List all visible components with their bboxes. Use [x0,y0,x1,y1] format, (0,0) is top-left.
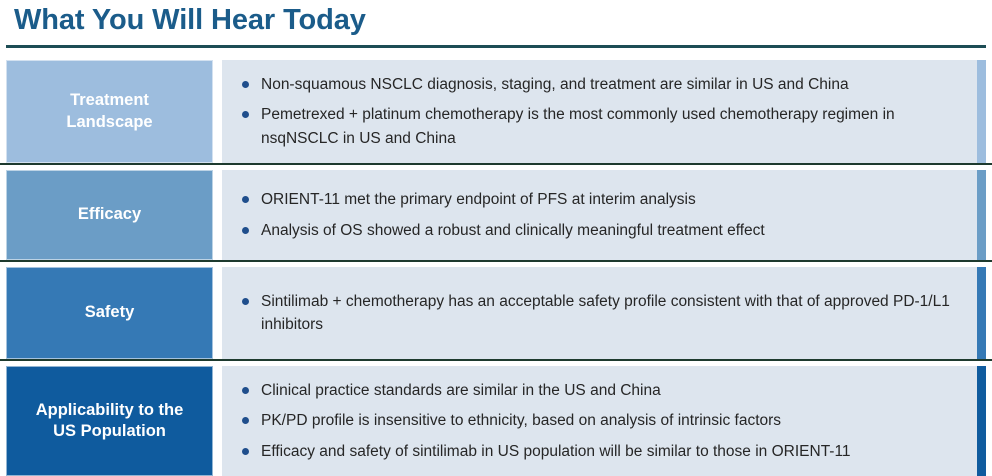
list-item: Efficacy and safety of sintilimab in US … [238,440,960,463]
row-label-line2: Landscape [66,113,152,131]
list-item: Pemetrexed + platinum chemotherapy is th… [238,103,960,150]
bullet-list: Clinical practice standards are similar … [222,379,986,463]
summary-rows: Treatment Landscape Non-squamous NSCLC d… [0,55,992,476]
list-item: Non-squamous NSCLC diagnosis, staging, a… [238,73,960,96]
row-accent-bar [977,366,986,476]
row-label-line1: Efficacy [78,204,141,225]
slide: What You Will Hear Today Treatment Lands… [0,0,992,476]
summary-row-treatment-landscape: Treatment Landscape Non-squamous NSCLC d… [0,55,992,163]
list-item: PK/PD profile is insensitive to ethnicit… [238,409,960,432]
list-item: Sintilimab + chemotherapy has an accepta… [238,290,960,337]
row-label-applicability: Applicability to the US Population [6,366,213,476]
bullet-list: Sintilimab + chemotherapy has an accepta… [222,290,986,337]
summary-row-efficacy: Efficacy ORIENT-11 met the primary endpo… [0,163,992,260]
title-block: What You Will Hear Today [0,0,992,52]
bullet-list: Non-squamous NSCLC diagnosis, staging, a… [222,73,986,150]
row-content-treatment-landscape: Non-squamous NSCLC diagnosis, staging, a… [222,60,986,163]
row-label-line2: US Population [53,422,166,440]
row-content-efficacy: ORIENT-11 met the primary endpoint of PF… [222,170,986,260]
row-accent-bar [977,60,986,163]
summary-row-applicability: Applicability to the US Population Clini… [0,359,992,476]
page-title: What You Will Hear Today [14,4,366,37]
row-label-line1: Treatment [70,91,149,109]
bullet-list: ORIENT-11 met the primary endpoint of PF… [222,188,986,242]
title-underline-rule [6,45,986,48]
row-accent-bar [977,267,986,359]
list-item: Analysis of OS showed a robust and clini… [238,219,960,242]
summary-row-safety: Safety Sintilimab + chemotherapy has an … [0,260,992,359]
list-item: Clinical practice standards are similar … [238,379,960,402]
list-item: ORIENT-11 met the primary endpoint of PF… [238,188,960,211]
row-label-efficacy: Efficacy [6,170,213,260]
row-label-treatment-landscape: Treatment Landscape [6,60,213,163]
row-label-safety: Safety [6,267,213,359]
row-label-line1: Safety [85,302,135,323]
row-accent-bar [977,170,986,260]
row-content-applicability: Clinical practice standards are similar … [222,366,986,476]
row-label-line1: Applicability to the [36,401,184,419]
row-content-safety: Sintilimab + chemotherapy has an accepta… [222,267,986,359]
